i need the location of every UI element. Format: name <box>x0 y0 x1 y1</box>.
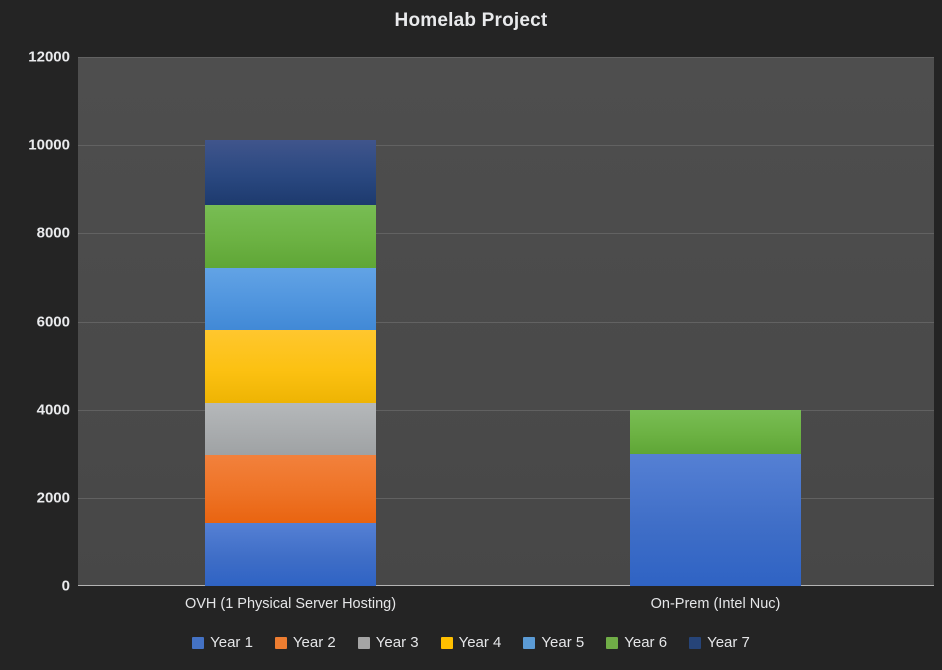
chart-legend: Year 1Year 2Year 3Year 4Year 5Year 6Year… <box>0 634 942 651</box>
chart-title: Homelab Project <box>0 10 942 32</box>
bar-segment[interactable] <box>630 410 801 454</box>
legend-item-label: Year 1 <box>210 634 253 651</box>
bar-segment[interactable] <box>205 140 376 205</box>
y-axis-labels: 020004000600080001000012000 <box>0 57 70 586</box>
bar-segment[interactable] <box>205 403 376 455</box>
legend-item[interactable]: Year 4 <box>441 634 502 651</box>
legend-color-swatch-icon <box>192 637 204 649</box>
gridline <box>78 57 934 58</box>
bar-segment[interactable] <box>205 330 376 403</box>
y-axis-tick-label: 8000 <box>0 226 70 241</box>
legend-color-swatch-icon <box>441 637 453 649</box>
legend-item-label: Year 7 <box>707 634 750 651</box>
plot-area <box>78 57 934 586</box>
legend-item-label: Year 5 <box>541 634 584 651</box>
legend-item[interactable]: Year 6 <box>606 634 667 651</box>
legend-item[interactable]: Year 3 <box>358 634 419 651</box>
y-axis-tick-label: 6000 <box>0 314 70 329</box>
legend-item[interactable]: Year 1 <box>192 634 253 651</box>
stacked-bar[interactable] <box>205 140 376 586</box>
bar-segment[interactable] <box>630 454 801 586</box>
legend-item-label: Year 4 <box>459 634 502 651</box>
legend-color-swatch-icon <box>606 637 618 649</box>
legend-color-swatch-icon <box>358 637 370 649</box>
y-axis-tick-label: 4000 <box>0 402 70 417</box>
legend-item-label: Year 6 <box>624 634 667 651</box>
legend-item[interactable]: Year 2 <box>275 634 336 651</box>
bar-segment[interactable] <box>205 455 376 523</box>
legend-item-label: Year 2 <box>293 634 336 651</box>
legend-item[interactable]: Year 7 <box>689 634 750 651</box>
bar-segment[interactable] <box>205 268 376 330</box>
y-axis-tick-label: 2000 <box>0 490 70 505</box>
legend-item[interactable]: Year 5 <box>523 634 584 651</box>
legend-item-label: Year 3 <box>376 634 419 651</box>
chart-container: Homelab Project 020004000600080001000012… <box>0 0 942 670</box>
x-axis-category-label: On-Prem (Intel Nuc) <box>651 596 781 612</box>
y-axis-tick-label: 0 <box>0 579 70 594</box>
legend-color-swatch-icon <box>523 637 535 649</box>
bar-segment[interactable] <box>205 205 376 268</box>
y-axis-tick-label: 10000 <box>0 138 70 153</box>
bar-segment[interactable] <box>205 523 376 586</box>
y-axis-tick-label: 12000 <box>0 50 70 65</box>
x-axis-labels: OVH (1 Physical Server Hosting)On-Prem (… <box>78 596 934 622</box>
stacked-bar[interactable] <box>630 410 801 586</box>
legend-color-swatch-icon <box>689 637 701 649</box>
legend-color-swatch-icon <box>275 637 287 649</box>
x-axis-category-label: OVH (1 Physical Server Hosting) <box>185 596 396 612</box>
